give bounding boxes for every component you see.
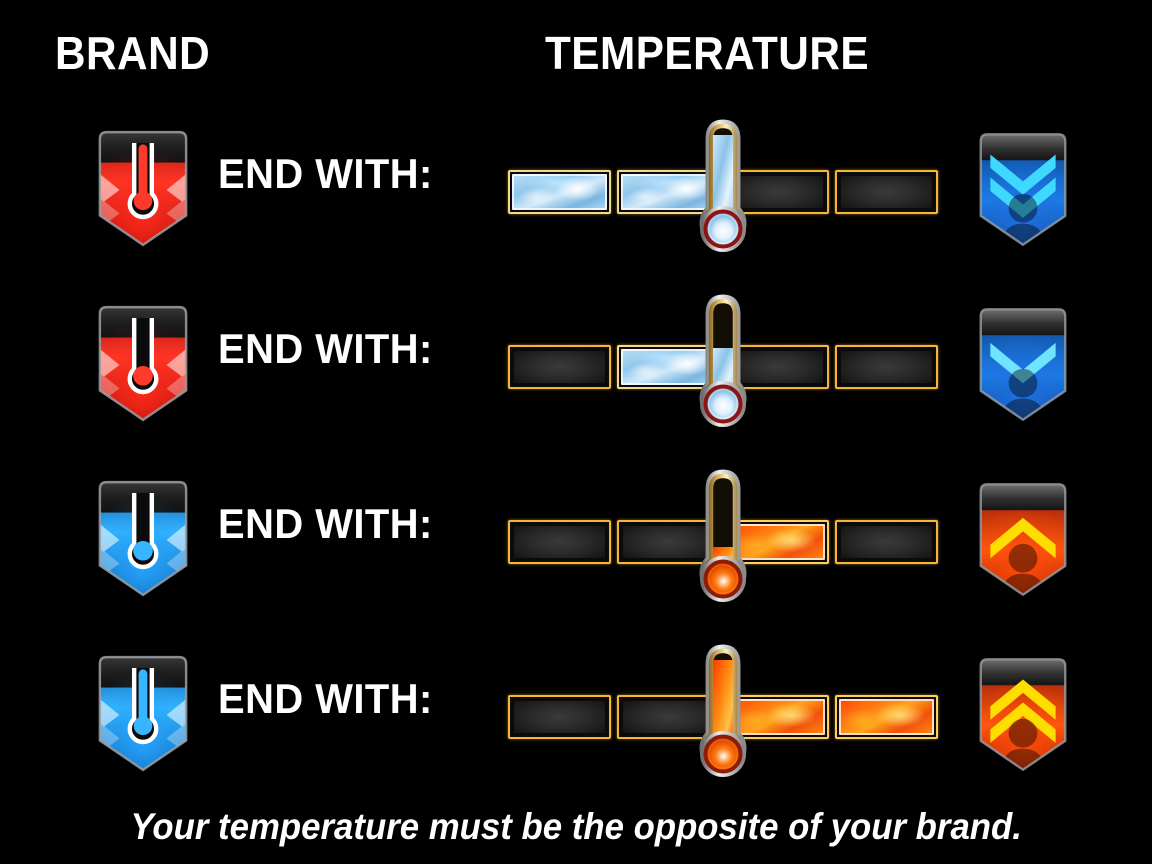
thermometer-hot-bulb-badge-icon[interactable] xyxy=(94,304,192,424)
segment-fill xyxy=(512,524,607,560)
thermometer-cold-full-badge-icon[interactable] xyxy=(94,654,192,774)
thermometer-cold-bulb-badge-icon[interactable] xyxy=(94,479,192,599)
temperature-segment[interactable] xyxy=(617,695,720,739)
rule-row: END WITH: xyxy=(0,462,1152,637)
temperature-meter xyxy=(508,287,938,462)
temperature-segment[interactable] xyxy=(617,520,720,564)
segment-fill xyxy=(730,349,825,385)
rank-badge-svg xyxy=(975,306,1071,424)
temperature-segment[interactable] xyxy=(617,170,720,214)
rule-row: END WITH: xyxy=(0,287,1152,462)
segment-fill xyxy=(621,349,716,385)
rule-row: END WITH: xyxy=(0,637,1152,812)
segment-track xyxy=(508,345,938,389)
end-with-label: END WITH: xyxy=(218,325,433,373)
end-with-label: END WITH: xyxy=(218,675,433,723)
temperature-segment[interactable] xyxy=(508,695,611,739)
column-headers: BRAND TEMPERATURE xyxy=(0,26,1152,94)
end-with-label: END WITH: xyxy=(218,500,433,548)
brand-badge-svg xyxy=(94,304,192,424)
segment-fill xyxy=(621,699,716,735)
temperature-meter xyxy=(508,462,938,637)
temperature-segment[interactable] xyxy=(726,170,829,214)
single-chevron-down-badge-icon[interactable] xyxy=(975,306,1071,424)
double-chevron-up-badge-icon[interactable] xyxy=(975,656,1071,774)
temperature-meter xyxy=(508,637,938,812)
temperature-segment[interactable] xyxy=(508,345,611,389)
temperature-segment[interactable] xyxy=(835,170,938,214)
temperature-segment[interactable] xyxy=(508,170,611,214)
rank-badge-svg xyxy=(975,481,1071,599)
segment-track xyxy=(508,170,938,214)
temperature-meter xyxy=(508,112,938,287)
segment-fill xyxy=(839,174,934,210)
temperature-segment[interactable] xyxy=(835,520,938,564)
segment-track xyxy=(508,520,938,564)
end-with-label: END WITH: xyxy=(218,150,433,198)
rule-row: END WITH: xyxy=(0,112,1152,287)
segment-fill xyxy=(730,174,825,210)
segment-track xyxy=(508,695,938,739)
header-brand: BRAND xyxy=(55,26,210,80)
brand-badge-svg xyxy=(94,654,192,774)
rule-rows: END WITH: xyxy=(0,112,1152,812)
segment-fill xyxy=(621,524,716,560)
segment-fill xyxy=(512,174,607,210)
rank-badge-svg xyxy=(975,131,1071,249)
temperature-segment[interactable] xyxy=(726,695,829,739)
brand-badge-svg xyxy=(94,479,192,599)
temperature-segment[interactable] xyxy=(835,345,938,389)
segment-fill xyxy=(730,699,825,735)
rank-badge-svg xyxy=(975,656,1071,774)
segment-fill xyxy=(839,349,934,385)
temperature-segment[interactable] xyxy=(726,345,829,389)
segment-fill xyxy=(512,349,607,385)
temperature-segment[interactable] xyxy=(617,345,720,389)
thermometer-hot-full-badge-icon[interactable] xyxy=(94,129,192,249)
brand-badge-svg xyxy=(94,129,192,249)
header-temperature: TEMPERATURE xyxy=(545,26,869,80)
segment-fill xyxy=(512,699,607,735)
segment-fill xyxy=(621,174,716,210)
caption-text: Your temperature must be the opposite of… xyxy=(130,806,1022,848)
segment-fill xyxy=(730,524,825,560)
temperature-segment[interactable] xyxy=(726,520,829,564)
segment-fill xyxy=(839,699,934,735)
double-chevron-down-badge-icon[interactable] xyxy=(975,131,1071,249)
temperature-segment[interactable] xyxy=(508,520,611,564)
single-chevron-up-badge-icon[interactable] xyxy=(975,481,1071,599)
segment-fill xyxy=(839,524,934,560)
temperature-segment[interactable] xyxy=(835,695,938,739)
caption: Your temperature must be the opposite of… xyxy=(0,806,1152,848)
